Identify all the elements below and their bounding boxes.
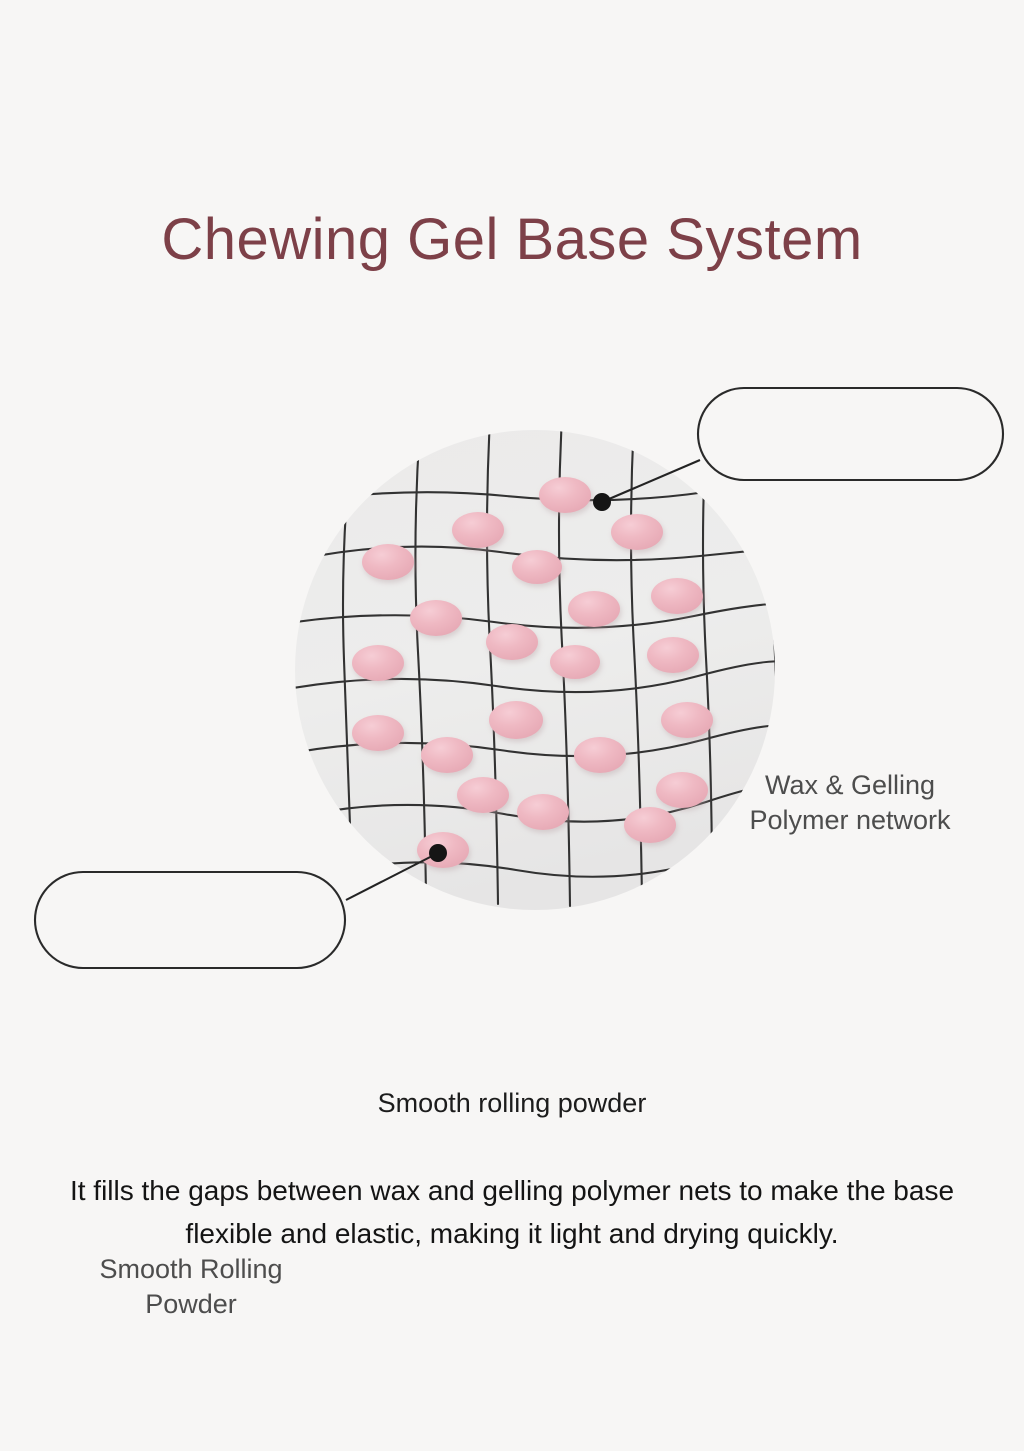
powder-particle [362,544,414,580]
powder-particle [661,702,713,738]
callout-wax-gelling[interactable] [698,388,1003,480]
powder-particle [352,715,404,751]
anchor-dot-smooth-rolling [429,844,447,862]
callout-smooth-rolling[interactable] [35,872,345,968]
gel-base-diagram: Wax & Gelling Polymer network Smooth Rol… [0,370,1024,990]
powder-particle [611,514,663,550]
page-title: Chewing Gel Base System [0,206,1024,273]
powder-particle [486,624,538,660]
powder-particle [574,737,626,773]
powder-particle [651,578,703,614]
callout-label-smooth-rolling: Smooth Rolling Powder [38,1252,344,1322]
anchor-dot-wax-gelling [593,493,611,511]
powder-particle [539,477,591,513]
page-root: Chewing Gel Base System [0,0,1024,1451]
powder-particle [656,772,708,808]
section-subheading: Smooth rolling powder [0,1088,1024,1119]
powder-particle [568,591,620,627]
powder-particle [624,807,676,843]
powder-particle [421,737,473,773]
powder-particle [489,701,543,739]
diagram-svg [0,370,1024,990]
powder-particle [550,645,600,679]
powder-particle [517,794,569,830]
powder-particle [647,637,699,673]
powder-particle [457,777,509,813]
powder-particle [410,600,462,636]
powder-particle [512,550,562,584]
powder-particle [452,512,504,548]
powder-particle [352,645,404,681]
section-body-text: It fills the gaps between wax and gellin… [50,1170,974,1255]
